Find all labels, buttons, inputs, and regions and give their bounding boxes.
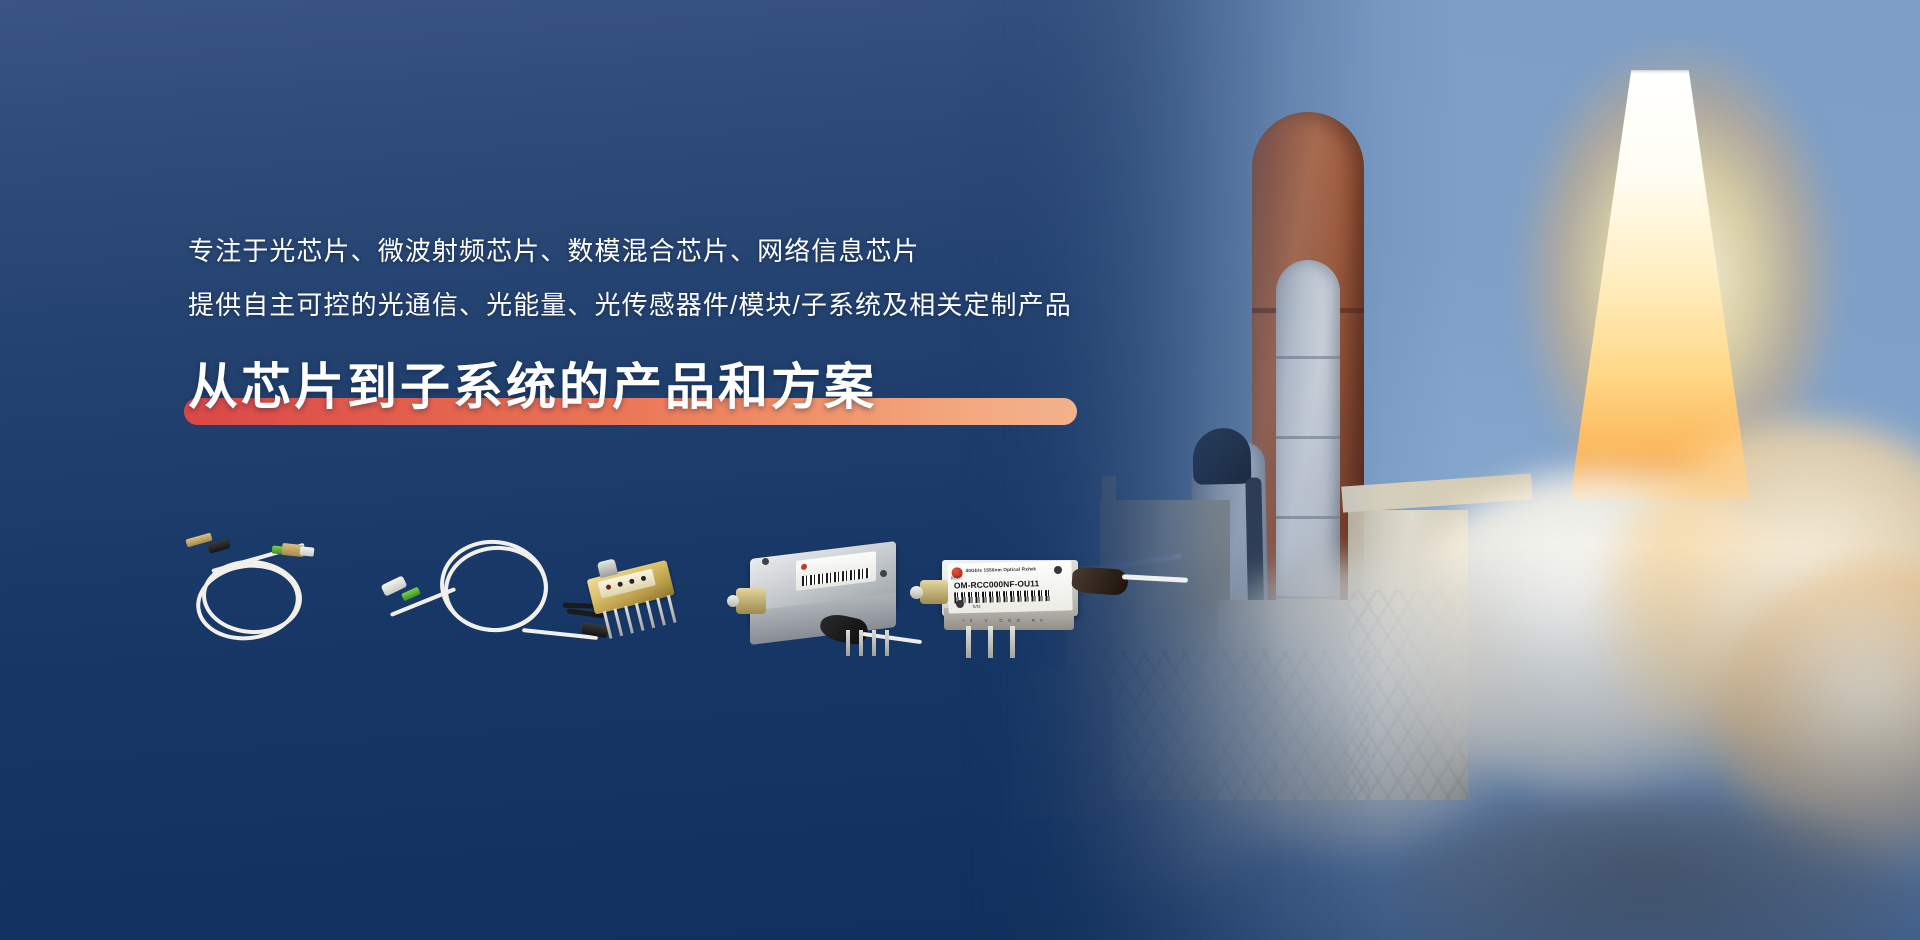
fiber-boot	[1071, 566, 1129, 596]
product-butterfly-package-laser-chip	[576, 545, 700, 663]
lead-line-2: 提供自主可控的光通信、光能量、光传感器件/模块/子系统及相关定制产品	[188, 282, 1188, 328]
product-rf-module-metal-housing	[734, 544, 924, 662]
lead-line-1: 专注于光芯片、微波射频芯片、数模混合芯片、网络信息芯片	[188, 228, 1188, 274]
product-showcase: 40Gb/s 1550nm Optical Rx/wk ROOT OM-RCC0…	[186, 520, 1216, 665]
photo-blend-overlay	[960, 0, 1920, 940]
hero-banner: 专注于光芯片、微波射频芯片、数模混合芯片、网络信息芯片 提供自主可控的光通信、光…	[0, 0, 1920, 940]
module-tagline: 40Gb/s 1550nm Optical Rx/wk	[965, 566, 1036, 573]
pin-labels: +5 V GND RF	[962, 618, 1048, 623]
product-optical-receiver-module: 40Gb/s 1550nm Optical Rx/wk ROOT OM-RCC0…	[926, 538, 1156, 660]
page-title: 从芯片到子系统的产品和方案	[188, 354, 1188, 420]
barcode	[954, 590, 1050, 604]
module-serial: S/N:	[972, 604, 981, 609]
product-fiber-optic-pigtail-assembly-1	[186, 530, 336, 642]
shuttle-launch-photo	[960, 0, 1920, 940]
sma-connector	[920, 580, 948, 604]
sma-connector	[736, 588, 766, 614]
headline-block: 从芯片到子系统的产品和方案	[188, 354, 1188, 432]
banner-copy: 专注于光芯片、微波射频芯片、数模混合芯片、网络信息芯片 提供自主可控的光通信、光…	[188, 228, 1188, 432]
module-part-number: OM-RCC000NF-OU11	[954, 578, 1040, 590]
product-fiber-optic-pigtail-assembly-2	[382, 536, 582, 652]
